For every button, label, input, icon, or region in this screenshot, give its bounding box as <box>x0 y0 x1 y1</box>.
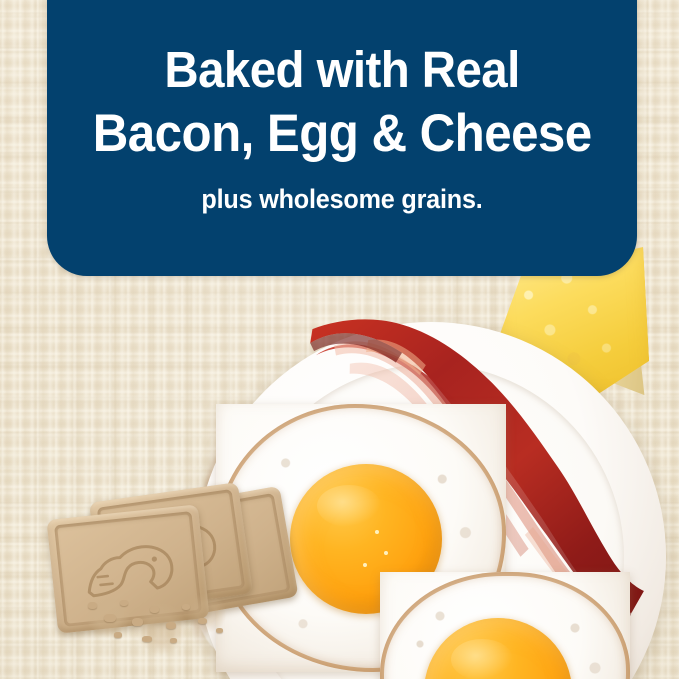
headline-panel: Baked with Real Bacon, Egg & Cheese plus… <box>47 0 637 276</box>
headline-line-1: Baked with Real <box>164 38 519 102</box>
subheadline: plus wholesome grains. <box>201 184 482 215</box>
headline-line-2: Bacon, Egg & Cheese <box>93 102 592 166</box>
product-banner: Baked with Real Bacon, Egg & Cheese plus… <box>0 0 679 679</box>
